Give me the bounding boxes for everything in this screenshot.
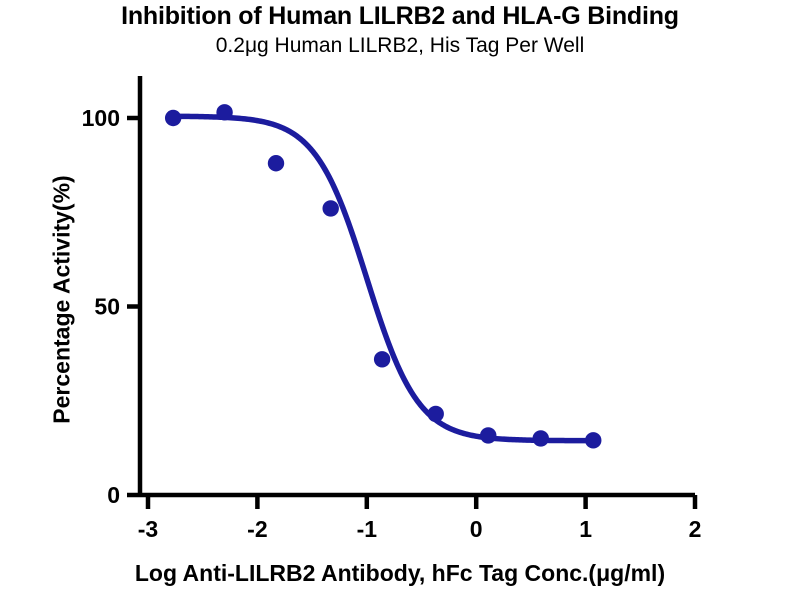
data-point [374,351,390,367]
tick-labels: 050100-3-2-1012 [82,105,702,542]
chart-subtitle: 0.2μg Human LILRB2, His Tag Per Well [0,34,800,58]
data-point [428,406,444,422]
data-points [165,104,602,448]
axes [127,76,695,509]
plot-area: 050100-3-2-1012 [0,0,800,600]
y-tick-label: 100 [82,105,120,131]
chart-figure: Inhibition of Human LILRB2 and HLA-G Bin… [0,0,800,600]
y-tick-label: 50 [94,294,120,320]
data-point [480,427,496,443]
data-point [323,200,339,216]
data-point [216,104,232,120]
x-tick-label: 2 [689,516,702,542]
x-tick-label: 1 [579,516,592,542]
data-point [268,155,284,171]
data-point [585,432,601,448]
x-tick-label: -2 [247,516,267,542]
x-tick-label: -1 [357,516,378,542]
sigmoid-curve [173,116,593,440]
chart-title: Inhibition of Human LILRB2 and HLA-G Bin… [0,2,800,31]
fit-curve [173,116,593,440]
data-point [165,110,181,126]
y-tick-label: 0 [107,482,120,508]
y-axis-label: Percentage Activity(%) [49,90,76,510]
x-tick-label: 0 [470,516,483,542]
x-axis-label: Log Anti-LILRB2 Antibody, hFc Tag Conc.(… [0,560,800,587]
data-point [533,430,549,446]
x-tick-label: -3 [138,516,158,542]
